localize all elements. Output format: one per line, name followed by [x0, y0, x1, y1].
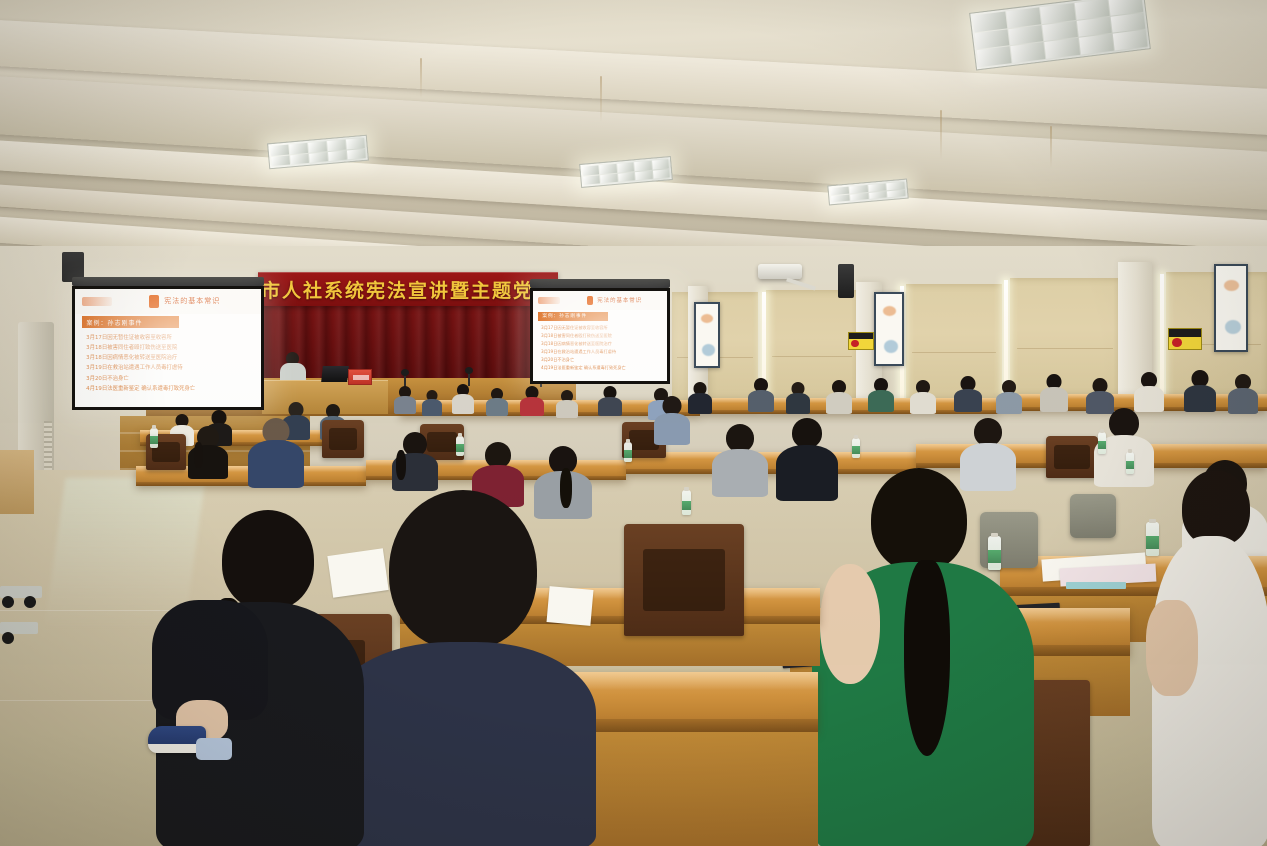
- right-projection-screen: 宪法的基本常识 案例：孙志刚事件 3月17日因无暂住证被收容至收容所 3月18日…: [530, 288, 670, 384]
- water-bottle: [150, 428, 158, 448]
- wall-cabinet: [0, 450, 34, 514]
- scroll-painting: [1214, 264, 1248, 352]
- screen-housing: [530, 279, 670, 288]
- chair: [322, 420, 364, 458]
- slide-header: 宪法的基本常识: [533, 291, 667, 310]
- attendee: [598, 386, 622, 414]
- slide-number-badge: [149, 295, 158, 308]
- slide-case-title: 案例：孙志刚事件: [86, 318, 142, 327]
- event-banner-text: 市人社系统宪法宣讲暨主题党日: [261, 276, 555, 303]
- slide-bullet: 4月19日法医重新鉴定 确认系遭毒打致死身亡: [86, 384, 252, 394]
- slide-header: 宪法的基本常识: [75, 289, 261, 314]
- attendee: [248, 418, 304, 484]
- slide-bullet: 3月18日被害同住者殴打致伤送至医院: [541, 332, 660, 340]
- attendee: [654, 396, 690, 442]
- caster-wheel: [2, 596, 14, 608]
- water-bottle: [682, 490, 691, 515]
- water-bottle: [1126, 452, 1134, 474]
- attendee: [712, 424, 768, 494]
- paper-sheet: [547, 586, 594, 626]
- water-bottle: [456, 436, 464, 456]
- attendee: [1134, 372, 1164, 410]
- water-bottle: [624, 442, 632, 462]
- slide-bullet: 3月18日因病情恶化被转送至医院治疗: [541, 340, 660, 348]
- gray-chair: [1070, 494, 1116, 538]
- attendee-navy-shirt: [330, 490, 596, 846]
- ceiling-stain: [420, 58, 422, 98]
- water-bottle: [852, 438, 860, 458]
- slide-bullet-list: 3月17日因无暂住证被收容至收容所 3月18日被害同住者殴打致伤送至医院 3月1…: [541, 324, 660, 372]
- attendee: [452, 384, 474, 412]
- scroll-painting: [694, 302, 720, 368]
- caster-wheel: [2, 632, 14, 644]
- slide-bullet: 3月17日因无暂住证被收容至收容所: [86, 333, 252, 343]
- attendee: [188, 426, 228, 476]
- slide-header-title: 宪法的基本常识: [164, 296, 220, 306]
- attendee: [786, 382, 810, 412]
- slide-header-title: 宪法的基本常识: [597, 296, 642, 304]
- attendee: [748, 378, 774, 410]
- lecture-hall-photo: 市人社系统宪法宣讲暨主题党日 宪法的基本常识 案例：孙志刚事件 3: [0, 0, 1267, 846]
- slide-bullet: 4月19日法医重新鉴定 确认系遭毒打致死身亡: [541, 364, 660, 372]
- attendee-green-polo: [812, 468, 1034, 846]
- attendee: [556, 390, 578, 416]
- slide-bullet: 3月18日因病情恶化被转送至医院治疗: [86, 353, 252, 363]
- scroll-painting: [874, 292, 904, 366]
- slide-bullet: 3月19日在救治站遭遇工作人员毒打虐待: [541, 348, 660, 356]
- attendee: [688, 382, 712, 412]
- projected-slide: 宪法的基本常识 案例：孙志刚事件 3月17日因无暂住证被收容至收容所 3月18日…: [72, 286, 264, 410]
- no-smoking-sign: [1168, 328, 1202, 350]
- ceiling-stain: [1050, 126, 1052, 168]
- event-banner: 市人社系统宪法宣讲暨主题党日: [258, 272, 558, 306]
- slide-bullet: 3月20日不治身亡: [541, 356, 660, 364]
- slide-bullet: 3月17日因无暂住证被收容至收容所: [541, 324, 660, 332]
- no-smoking-sign: [848, 332, 874, 350]
- slide-bullet: 3月19日在救治站遭遇工作人员毒打虐待: [86, 363, 252, 373]
- attendee: [954, 376, 982, 410]
- ceiling-projector: [758, 264, 802, 279]
- water-bottle: [1098, 432, 1106, 454]
- slide-bullet: 3月18日被害同住者殴打致伤送至医院: [86, 343, 252, 353]
- folder: [1066, 582, 1126, 589]
- attendee: [394, 386, 416, 412]
- attendee: [1184, 370, 1216, 410]
- attendee: [422, 390, 442, 414]
- attendee: [910, 380, 936, 412]
- paper-sheet: [327, 548, 388, 597]
- slide-number-badge: [587, 296, 594, 306]
- caster-wheel: [24, 596, 36, 608]
- attendee: [392, 432, 438, 488]
- slide-case-bar: 案例：孙志刚事件: [538, 312, 608, 321]
- slide-bullet: 3月20日不治身亡: [86, 374, 252, 384]
- ceiling-stain: [940, 110, 942, 160]
- chair: [1046, 436, 1098, 478]
- attendee: [486, 388, 508, 414]
- sock: [196, 738, 232, 760]
- attendee-white-tee: [1150, 470, 1267, 846]
- attendee: [996, 380, 1022, 412]
- attendee: [1228, 374, 1258, 412]
- slide-case-title: 案例：孙志刚事件: [542, 313, 587, 319]
- red-box: [348, 369, 372, 385]
- wall-speaker: [838, 264, 854, 298]
- slide-bullet-list: 3月17日因无暂住证被收容至收容所 3月18日被害同住者殴打致伤送至医院 3月1…: [86, 333, 252, 395]
- left-projection-screen: 宪法的基本常识 案例：孙志刚事件 3月17日因无暂住证被收容至收容所 3月18日…: [72, 286, 264, 410]
- slide-case-bar: 案例：孙志刚事件: [82, 316, 179, 328]
- screen-housing: [72, 277, 264, 286]
- slide-logo: [538, 297, 559, 303]
- presenter-laptop: [321, 366, 349, 382]
- slide-logo: [82, 297, 112, 305]
- projected-slide: 宪法的基本常识 案例：孙志刚事件 3月17日因无暂住证被收容至收容所 3月18日…: [530, 288, 670, 384]
- chair: [624, 524, 744, 636]
- attendee: [1086, 378, 1114, 412]
- attendee: [1040, 374, 1068, 410]
- ceiling-stain: [600, 76, 602, 122]
- attendee: [826, 380, 852, 412]
- attendee: [868, 378, 894, 410]
- attendee: [520, 386, 544, 414]
